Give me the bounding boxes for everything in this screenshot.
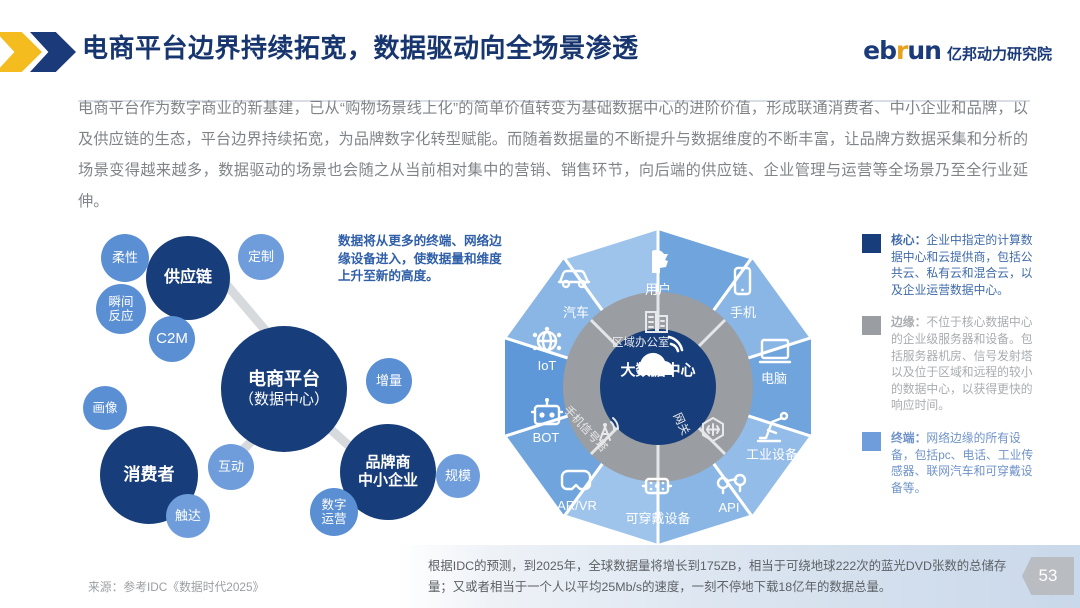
bubble-ecommerce-platform-label: 电商平台 <box>248 369 320 389</box>
bubble-portrait-label: 画像 <box>92 401 117 415</box>
bubble-supply-chain-label: 供应链 <box>164 269 212 287</box>
bubble-digital-ops-label: 数字运营 <box>321 498 347 526</box>
bubble-interaction[interactable]: 互动 <box>208 444 254 490</box>
bubble-supply-chain[interactable]: 供应链 <box>146 236 230 320</box>
legend-item-core: 核心：企业中指定的计算数据中心和云提供商，包括公共云、私有云和混合云，以及企业运… <box>862 232 1042 298</box>
bubble-scale-label: 规模 <box>445 469 471 484</box>
page-title: 电商平台边界持续拓宽，数据驱动向全场景渗透 <box>82 28 639 65</box>
legend-swatch-core <box>862 234 881 253</box>
logo-chinese-name: 亿邦动力研究院 <box>947 43 1052 64</box>
bubble-digital-ops[interactable]: 数字运营 <box>310 488 358 536</box>
bubble-sme-label: 中小企业 <box>358 473 418 490</box>
data-sources-wheel: 用户 手机 电脑 工业设备 API 可穿戴设备 AR/VR BOT IoT 汽车… <box>488 222 828 552</box>
legend-body-edge: 不位于核心数据中心的企业级服务器和设备。包括服务器机房、信号发射塔以及位于区域和… <box>891 315 1033 412</box>
bubble-consumer-label: 消费者 <box>124 465 175 484</box>
bubble-instant-response[interactable]: 瞬间反应 <box>96 284 146 334</box>
logo-wordmark: ebrun <box>863 36 941 65</box>
legend-title-endpoint: 终端： <box>891 431 926 445</box>
footer-banner-text: 根据IDC的预测，到2025年，全球数据量将增长到175ZB，相当于可绕地球22… <box>428 556 1028 598</box>
legend-item-edge: 边缘：不位于核心数据中心的企业级服务器和设备。包括服务器机房、信号发射塔以及位于… <box>862 314 1042 414</box>
footer-banner: 根据IDC的预测，到2025年，全球数据量将增长到175ZB，相当于可绕地球22… <box>398 545 1080 608</box>
slide-root: 电商平台边界持续拓宽，数据驱动向全场景渗透 ebrun 亿邦动力研究院 电商平台… <box>0 0 1080 608</box>
bubble-ecommerce-platform-sublabel: （数据中心） <box>239 392 329 409</box>
legend-text-edge: 边缘：不位于核心数据中心的企业级服务器和设备。包括服务器机房、信号发射塔以及位于… <box>891 314 1042 414</box>
bubble-increment-label: 增量 <box>376 374 402 389</box>
slide-header: 电商平台边界持续拓宽，数据驱动向全场景渗透 ebrun 亿邦动力研究院 <box>0 22 1080 84</box>
bubble-flexibility[interactable]: 柔性 <box>101 234 149 282</box>
bubble-c2m[interactable]: C2M <box>149 316 195 362</box>
bubble-brand-label: 品牌商 <box>365 455 410 472</box>
bubble-c2m-label: C2M <box>156 331 188 348</box>
logo-text-r: r <box>896 36 907 65</box>
legend-panel: 核心：企业中指定的计算数据中心和云提供商，包括公共云、私有云和混合云，以及企业运… <box>862 232 1042 512</box>
bubble-customization[interactable]: 定制 <box>238 234 284 280</box>
legend-swatch-endpoint <box>862 432 881 451</box>
source-note: 来源：参考IDC《数据时代2025》 <box>88 578 264 595</box>
intro-paragraph: 电商平台作为数字商业的新基建，已从“购物场景线上化”的简单价值转变为基础数据中心… <box>78 93 1028 217</box>
bubble-scale[interactable]: 规模 <box>436 454 480 498</box>
bubble-reach[interactable]: 触达 <box>166 494 210 538</box>
legend-item-endpoint: 终端：网络边缘的所有设备，包括pc、电话、工业传感器、联网汽车和可穿戴设备等。 <box>862 430 1042 496</box>
logo-text-un: un <box>907 36 941 65</box>
legend-swatch-edge <box>862 316 881 335</box>
legend-text-endpoint: 终端：网络边缘的所有设备，包括pc、电话、工业传感器、联网汽车和可穿戴设备等。 <box>891 430 1042 496</box>
bubble-ecommerce-platform[interactable]: 电商平台 （数据中心） <box>221 326 347 452</box>
header-chevrons <box>0 32 80 72</box>
legend-title-edge: 边缘： <box>891 315 926 329</box>
annotation-text: 数据将从更多的终端、网络边缘设备进入，使数据量和维度上升至新的高度。 <box>338 233 503 286</box>
legend-text-core: 核心：企业中指定的计算数据中心和云提供商，包括公共云、私有云和混合云，以及企业运… <box>891 232 1042 298</box>
ebrun-logo: ebrun 亿邦动力研究院 <box>863 36 1052 65</box>
bubble-reach-label: 触达 <box>175 509 201 524</box>
bubble-increment[interactable]: 增量 <box>366 358 412 404</box>
bubble-portrait[interactable]: 画像 <box>83 386 127 430</box>
bubble-instant-response-label: 瞬间反应 <box>104 295 138 323</box>
bubble-customization-label: 定制 <box>248 250 274 265</box>
legend-title-core: 核心： <box>891 233 926 247</box>
bubble-flexibility-label: 柔性 <box>112 251 138 266</box>
logo-text-eb: eb <box>863 36 896 65</box>
page-number-badge: 53 <box>1022 557 1074 595</box>
bubble-interaction-label: 互动 <box>218 460 244 475</box>
wheel-graphic <box>488 222 828 552</box>
